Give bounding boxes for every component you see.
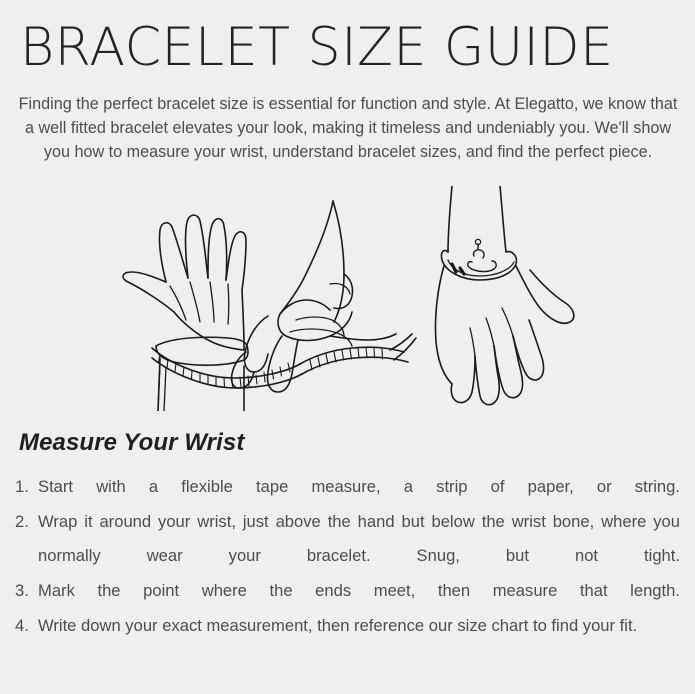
list-item-text: Start with a flexible tape measure, a st… (38, 470, 680, 504)
list-item-number: 1. (15, 470, 38, 504)
list-item: 2. Wrap it around your wrist, just above… (15, 505, 680, 573)
list-item: 3. Mark the point where the ends meet, t… (15, 574, 680, 608)
section-heading-measure-your-wrist: Measure Your Wrist (19, 428, 244, 458)
bracelet-size-guide-page: BRACELET SIZE GUIDE Finding the perfect … (0, 0, 695, 694)
measure-steps-list: 1. Start with a flexible tape measure, a… (15, 470, 680, 644)
list-item: 1. Start with a flexible tape measure, a… (15, 470, 680, 504)
intro-paragraph: Finding the perfect bracelet size is ess… (18, 92, 678, 165)
list-item-number: 3. (15, 574, 38, 608)
list-item: 4. Write down your exact measurement, th… (15, 609, 680, 643)
list-item-number: 2. (15, 505, 38, 539)
list-item-text: Mark the point where the ends meet, then… (38, 574, 680, 608)
wrist-measurement-illustration (100, 186, 600, 411)
page-title: BRACELET SIZE GUIDE (20, 18, 670, 78)
list-item-text: Wrap it around your wrist, just above th… (38, 505, 680, 573)
wrist-measurement-illustration-svg (100, 186, 600, 411)
list-item-number: 4. (15, 609, 38, 643)
list-item-text: Write down your exact measurement, then … (38, 609, 680, 643)
